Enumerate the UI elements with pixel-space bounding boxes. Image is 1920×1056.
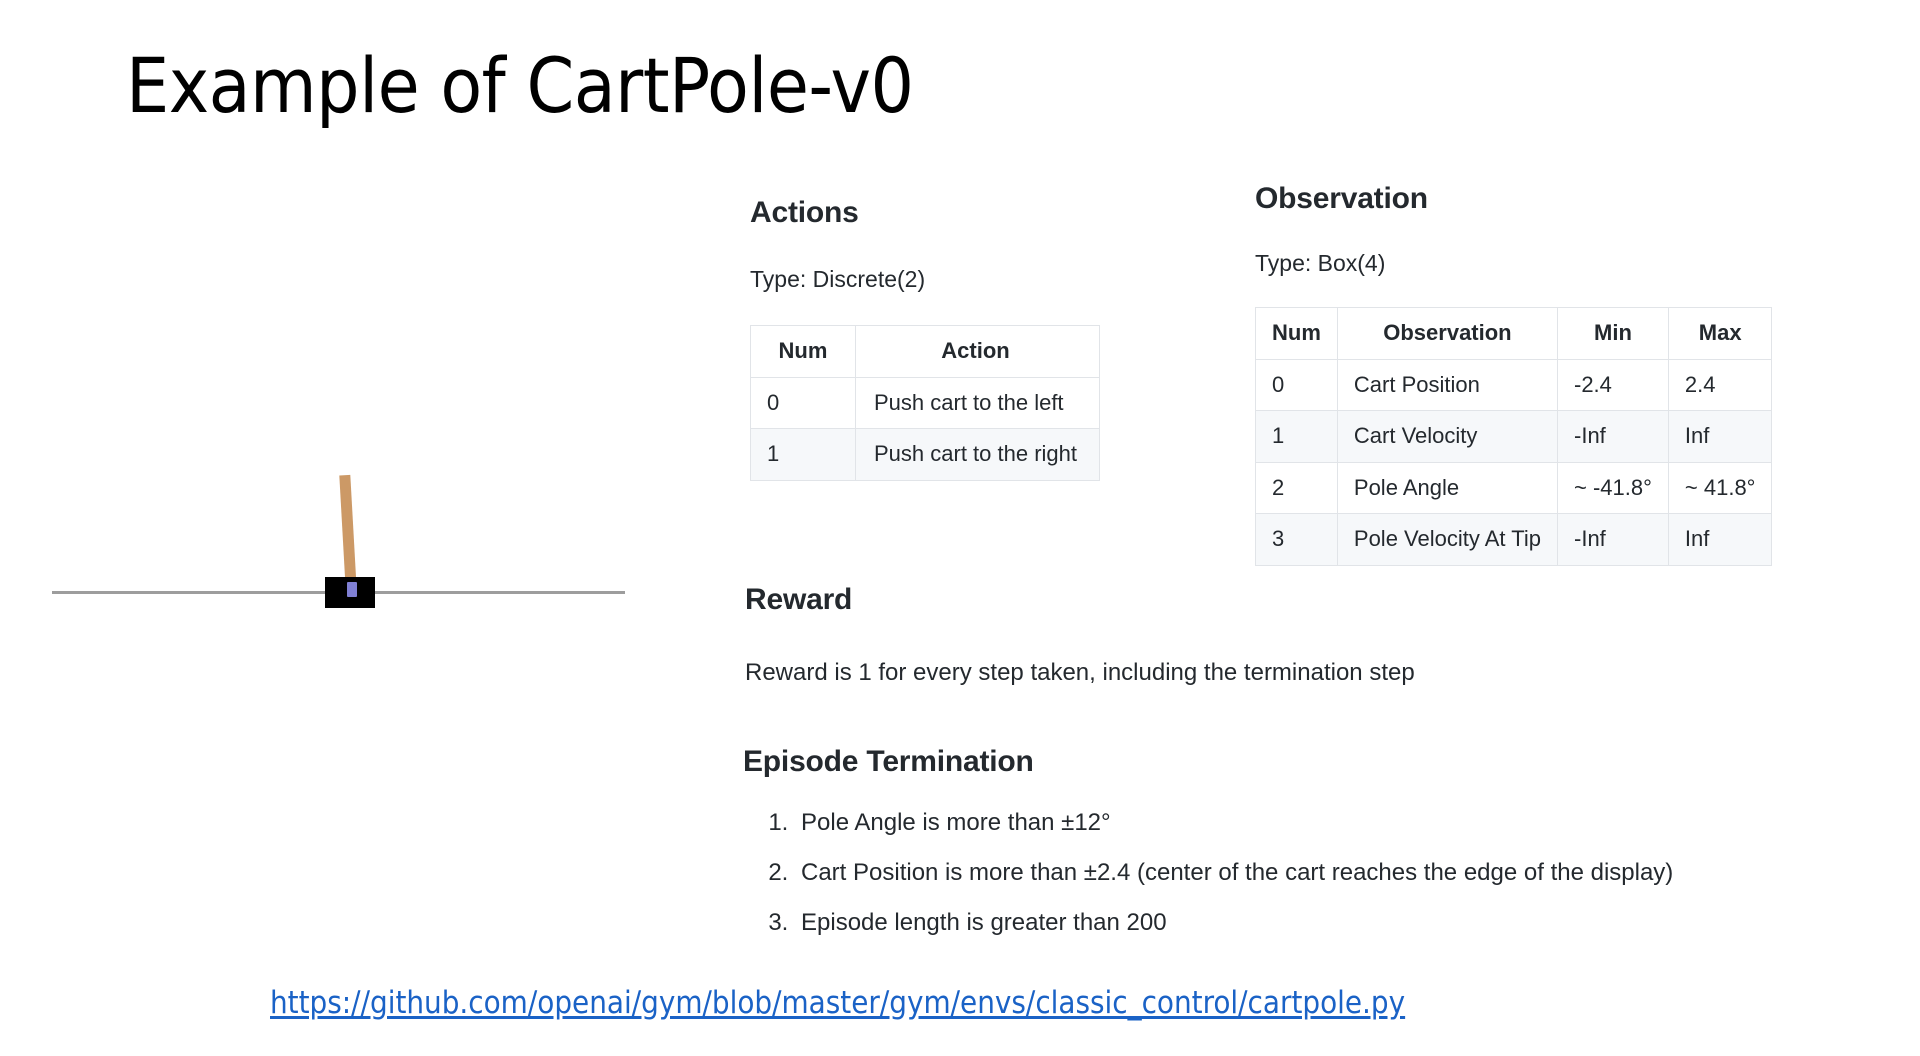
observation-cell-min: -Inf [1558,514,1669,566]
observation-col-max: Max [1668,308,1772,360]
table-row: 2 Pole Angle ~ -41.8° ~ 41.8° [1256,462,1772,514]
observation-cell-max: 2.4 [1668,359,1772,411]
episode-termination-list: Pole Angle is more than ±12° Cart Positi… [743,809,1873,937]
observation-col-min: Min [1558,308,1669,360]
reward-section: Reward Reward is 1 for every step taken,… [745,583,1865,687]
table-row: 1 Cart Velocity -Inf Inf [1256,411,1772,463]
table-row: 1 Push cart to the right [751,429,1100,481]
actions-col-num: Num [751,326,856,378]
observation-cell-max: ~ 41.8° [1668,462,1772,514]
observation-cell-max: Inf [1668,411,1772,463]
observation-col-observation: Observation [1337,308,1557,360]
actions-type-text: Type: Discrete(2) [750,266,1170,293]
reward-text: Reward is 1 for every step taken, includ… [745,659,1865,687]
actions-cell-num: 0 [751,377,856,429]
list-item: Cart Position is more than ±2.4 (center … [795,859,1873,887]
observation-cell-min: -2.4 [1558,359,1669,411]
observation-cell-max: Inf [1668,514,1772,566]
observation-cell-num: 1 [1256,411,1338,463]
page-title: Example of CartPole-v0 [126,48,913,124]
observation-cell-num: 0 [1256,359,1338,411]
cartpole-axle [347,582,357,597]
observation-cell-num: 2 [1256,462,1338,514]
table-row: 0 Push cart to the left [751,377,1100,429]
observation-table-container: Num Observation Min Max 0 Cart Position … [1255,307,1815,566]
observation-table: Num Observation Min Max 0 Cart Position … [1255,307,1772,566]
observation-cell-name: Cart Position [1337,359,1557,411]
table-header-row: Num Action [751,326,1100,378]
actions-cell-num: 1 [751,429,856,481]
actions-cell-action: Push cart to the right [856,429,1100,481]
actions-cell-action: Push cart to the left [856,377,1100,429]
cartpole-render-panel [40,170,660,960]
list-item: Episode length is greater than 200 [795,909,1873,937]
observation-type-text: Type: Box(4) [1255,250,1815,277]
observation-heading: Observation [1255,182,1815,216]
observation-cell-min: ~ -41.8° [1558,462,1669,514]
table-row: 3 Pole Velocity At Tip -Inf Inf [1256,514,1772,566]
actions-heading: Actions [750,196,1170,230]
actions-table-container: Num Action 0 Push cart to the left 1 Pus… [750,325,1170,481]
observation-cell-name: Cart Velocity [1337,411,1557,463]
episode-termination-section: Episode Termination Pole Angle is more t… [743,745,1873,937]
actions-section: Actions Type: Discrete(2) Num Action 0 P… [750,196,1170,481]
table-row: 0 Cart Position -2.4 2.4 [1256,359,1772,411]
observation-cell-name: Pole Velocity At Tip [1337,514,1557,566]
actions-table: Num Action 0 Push cart to the left 1 Pus… [750,325,1100,481]
table-header-row: Num Observation Min Max [1256,308,1772,360]
reward-heading: Reward [745,583,1865,617]
actions-col-action: Action [856,326,1100,378]
episode-termination-heading: Episode Termination [743,745,1873,779]
source-url-link[interactable]: https://github.com/openai/gym/blob/maste… [270,985,1405,1021]
observation-cell-min: -Inf [1558,411,1669,463]
observation-section: Observation Type: Box(4) Num Observation… [1255,182,1815,566]
list-item: Pole Angle is more than ±12° [795,809,1873,837]
observation-cell-num: 3 [1256,514,1338,566]
observation-col-num: Num [1256,308,1338,360]
observation-cell-name: Pole Angle [1337,462,1557,514]
